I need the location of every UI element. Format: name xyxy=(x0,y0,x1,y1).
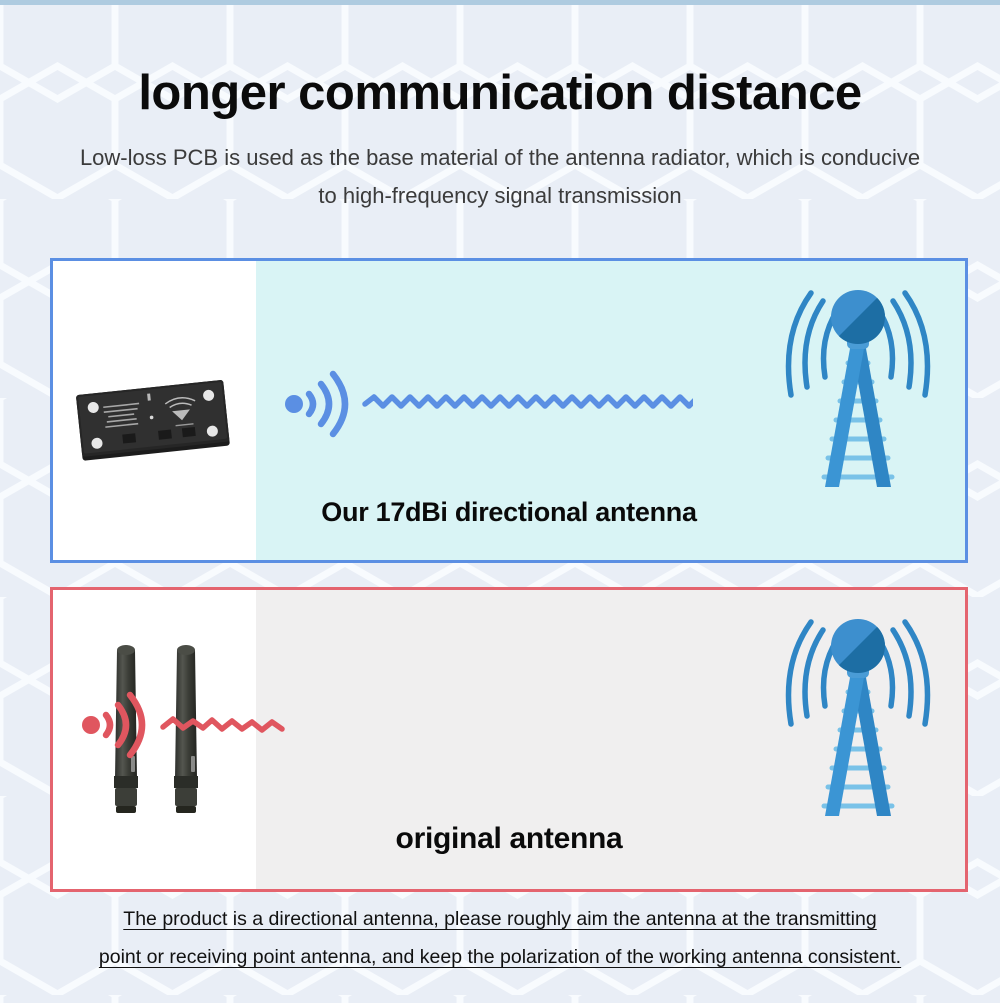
caption-our-antenna: Our 17dBi directional antenna xyxy=(53,497,965,528)
panel-original-antenna: original antenna xyxy=(50,587,968,892)
cell-tower-icon xyxy=(763,604,953,854)
cell-tower-icon xyxy=(763,275,953,525)
panel-our-antenna: Our 17dBi directional antenna xyxy=(50,258,968,563)
wave-line xyxy=(365,397,693,406)
footnote-line-1: The product is a directional antenna, pl… xyxy=(123,908,876,930)
header: longer communication distance Low-loss P… xyxy=(0,0,1000,215)
signal-strong-blue xyxy=(53,369,693,439)
footnote: The product is a directional antenna, pl… xyxy=(0,900,1000,976)
caption-original-antenna: original antenna xyxy=(53,822,965,856)
wave-line xyxy=(163,719,282,730)
footnote-line-2: point or receiving point antenna, and ke… xyxy=(99,946,901,968)
page-subtitle: Low-loss PCB is used as the base materia… xyxy=(0,139,1000,215)
page-title: longer communication distance xyxy=(0,68,1000,119)
signal-weak-red xyxy=(53,685,313,765)
